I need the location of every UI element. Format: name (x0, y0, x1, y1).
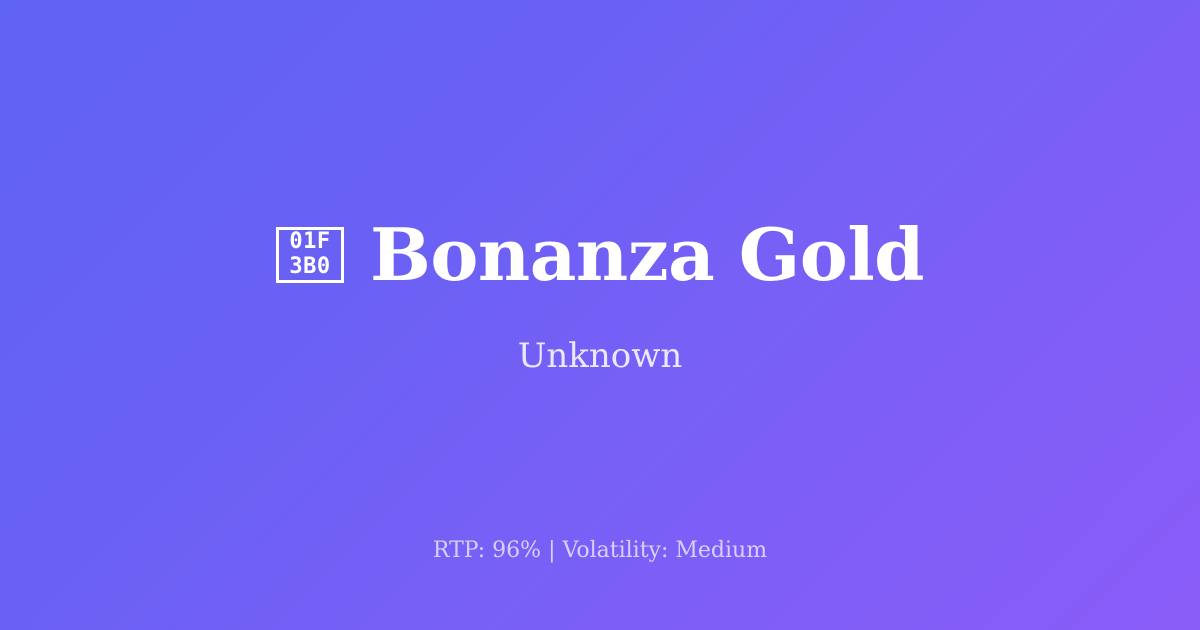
hero-block: 01F 3B0 Bonanza Gold Unknown (0, 217, 1200, 377)
slot-machine-icon-codepoint-bottom: 3B0 (289, 256, 330, 278)
title-row: 01F 3B0 Bonanza Gold (276, 217, 924, 293)
og-card-root: { "card": { "background": { "gradient_fr… (0, 0, 1200, 630)
slot-machine-icon-codepoint-top: 01F (289, 231, 330, 253)
provider-subtitle: Unknown (518, 336, 683, 377)
page-title: Bonanza Gold (370, 217, 924, 293)
slot-machine-icon: 01F 3B0 (276, 227, 344, 283)
game-stats-line: RTP: 96% | Volatility: Medium (0, 538, 1200, 564)
